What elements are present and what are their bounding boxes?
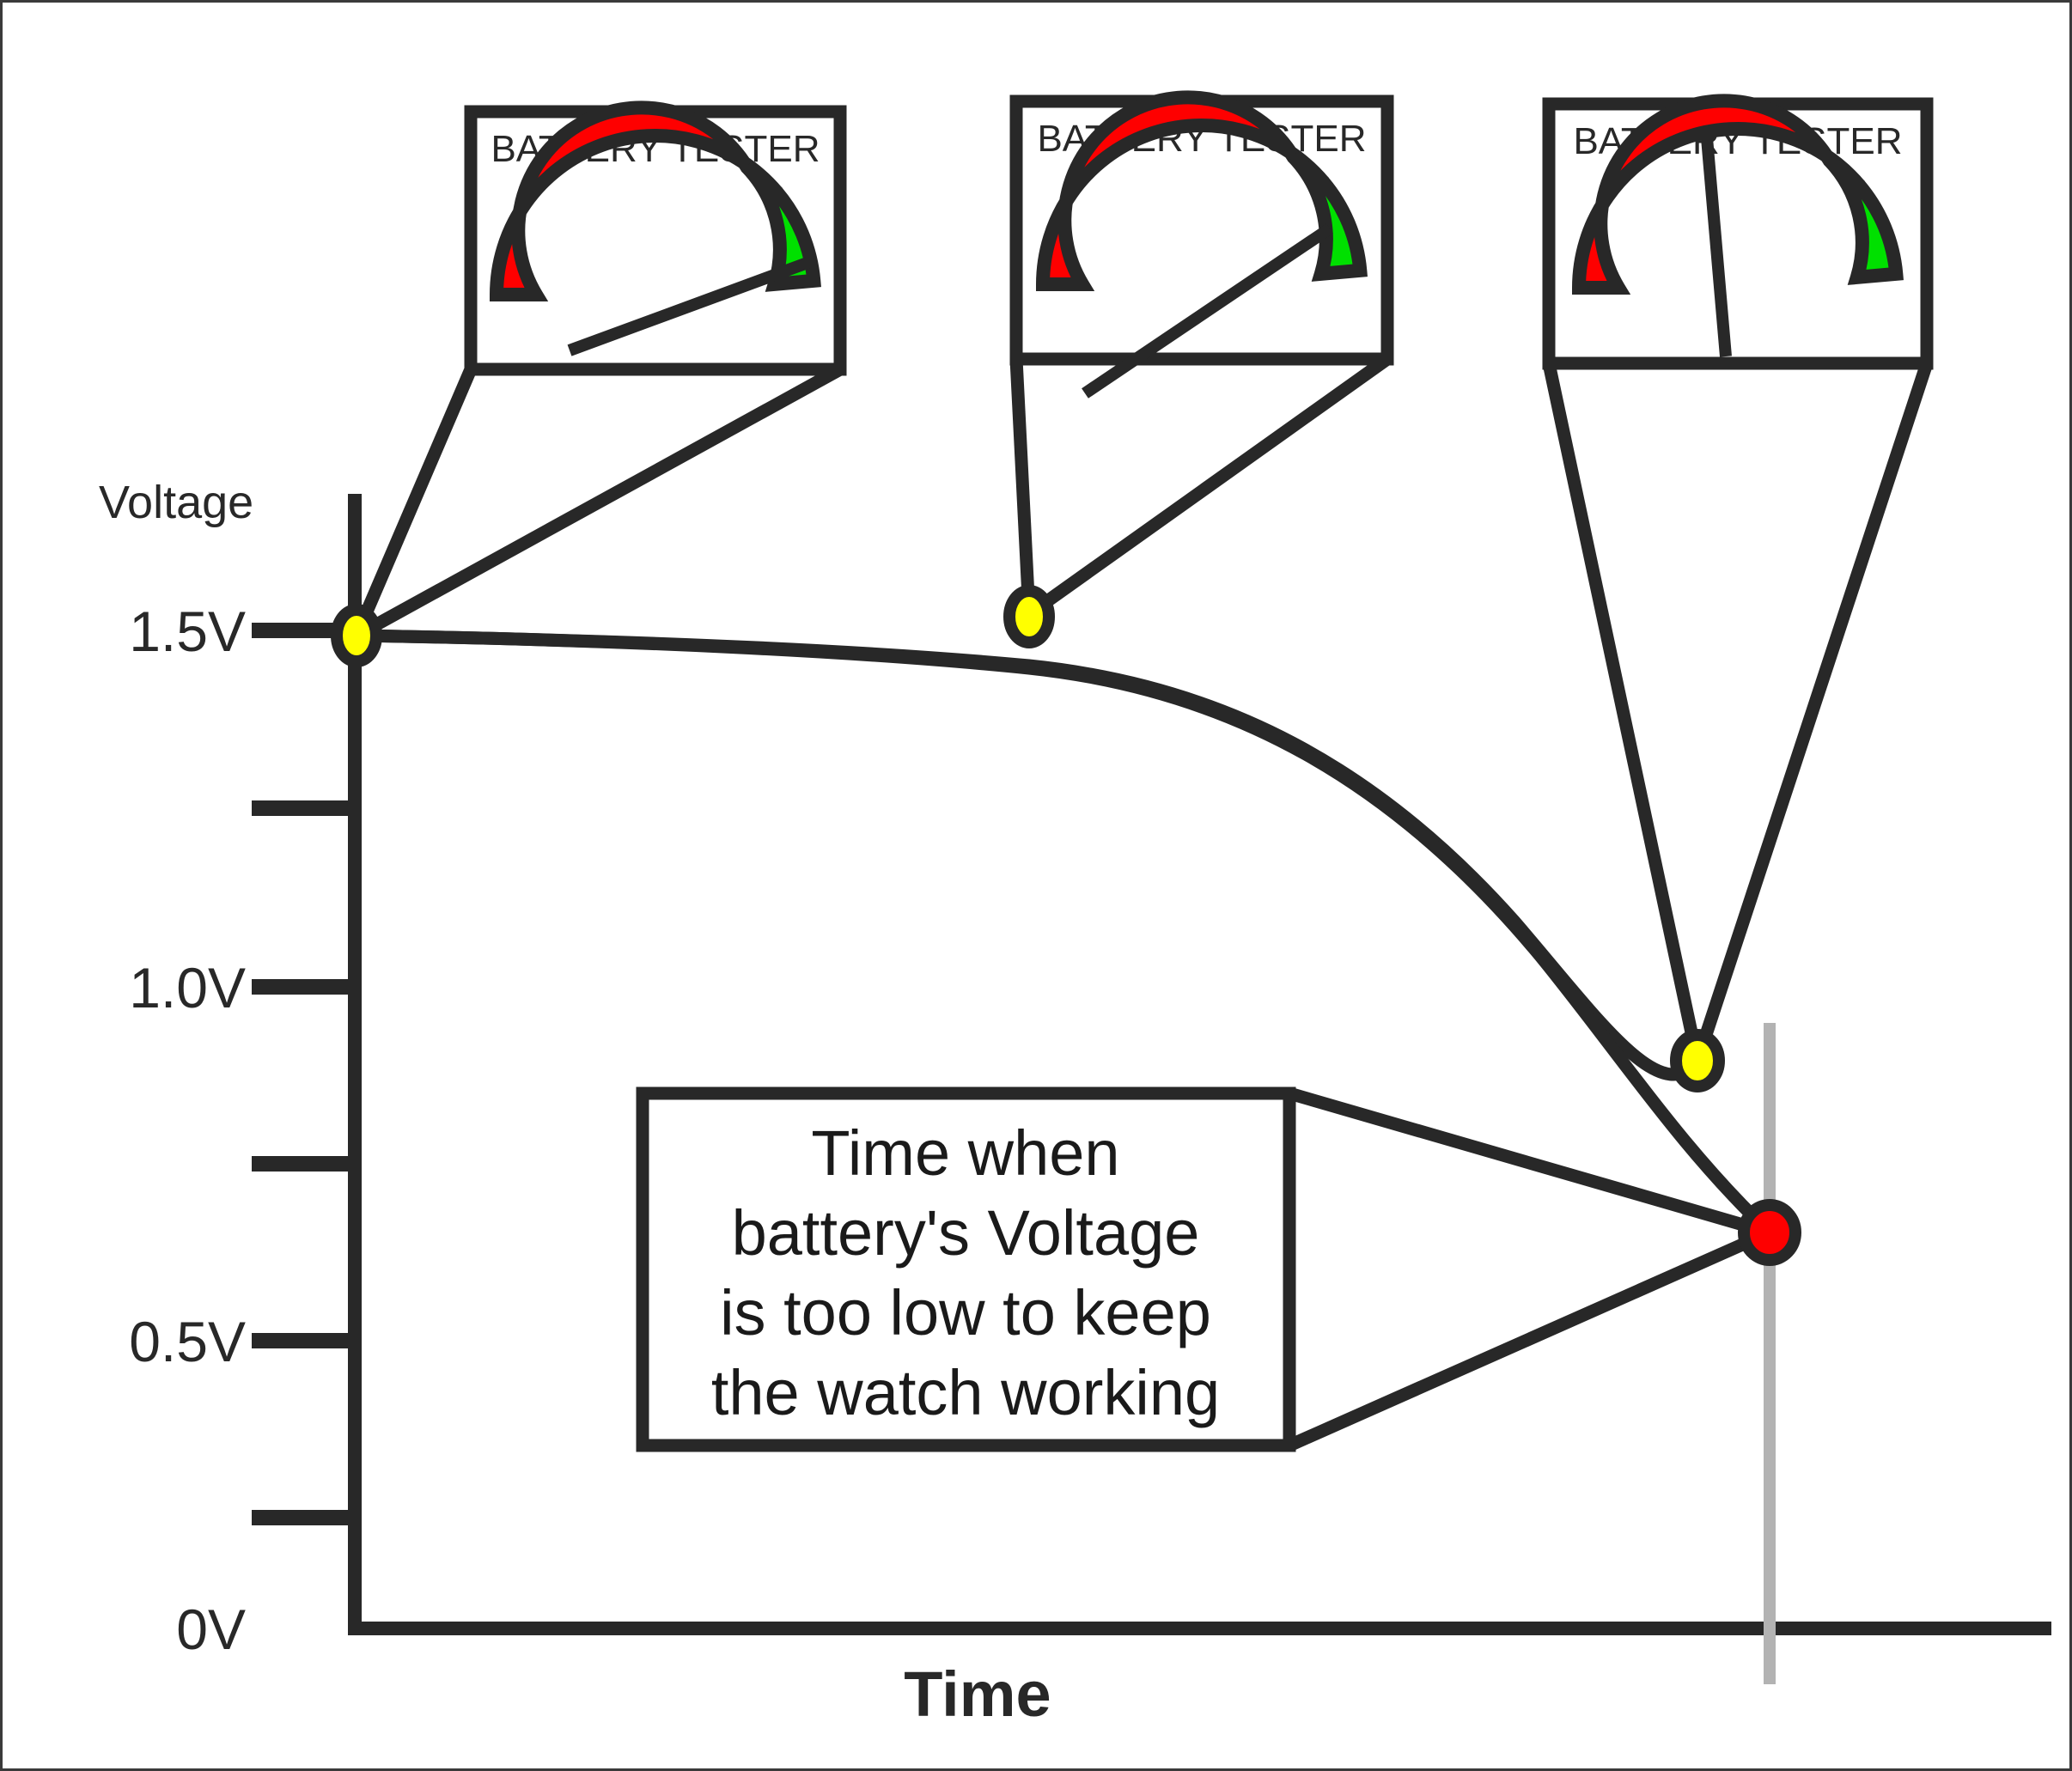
annotation-line-3: is too low to keep bbox=[720, 1277, 1211, 1348]
y-axis-label: Voltage bbox=[99, 477, 253, 528]
voltage-discharge-curve bbox=[357, 636, 1697, 1074]
marker-yellow-1 bbox=[337, 610, 376, 661]
battery-tester-callout-3: BATTERY TESTER bbox=[1549, 100, 1927, 363]
battery-tester-callout-2: BATTERY TESTER bbox=[1016, 97, 1387, 393]
annotation-line-2: battery's Voltage bbox=[732, 1197, 1200, 1269]
axis-group bbox=[252, 494, 2051, 1628]
y-tick-label-1_0V: 1.0V bbox=[129, 956, 246, 1019]
y-tick-label-0V: 0V bbox=[176, 1598, 246, 1661]
battery-tester-callout-1: BATTERY TESTER bbox=[471, 107, 840, 369]
marker-red-cutoff bbox=[1744, 1205, 1795, 1260]
callout-leader-1 bbox=[357, 369, 840, 636]
callout-leader-2 bbox=[1016, 359, 1387, 614]
x-axis-label: Time bbox=[904, 1658, 1051, 1730]
annotation-line-1: Time when bbox=[811, 1117, 1119, 1189]
annotation-line-4: the watch working bbox=[711, 1357, 1220, 1428]
annotation-textbox: Time when battery's Voltage is too low t… bbox=[643, 1093, 1289, 1445]
figure-canvas: Voltage 1.5V 1.0V 0.5V 0V Time Time when… bbox=[0, 0, 2072, 1771]
y-tick-label-0_5V: 0.5V bbox=[129, 1310, 246, 1373]
marker-yellow-3 bbox=[1676, 1035, 1719, 1086]
marker-yellow-2 bbox=[1009, 591, 1049, 642]
y-tick-label-1_5V: 1.5V bbox=[129, 599, 246, 663]
callout-leader-3 bbox=[1549, 363, 1927, 1061]
